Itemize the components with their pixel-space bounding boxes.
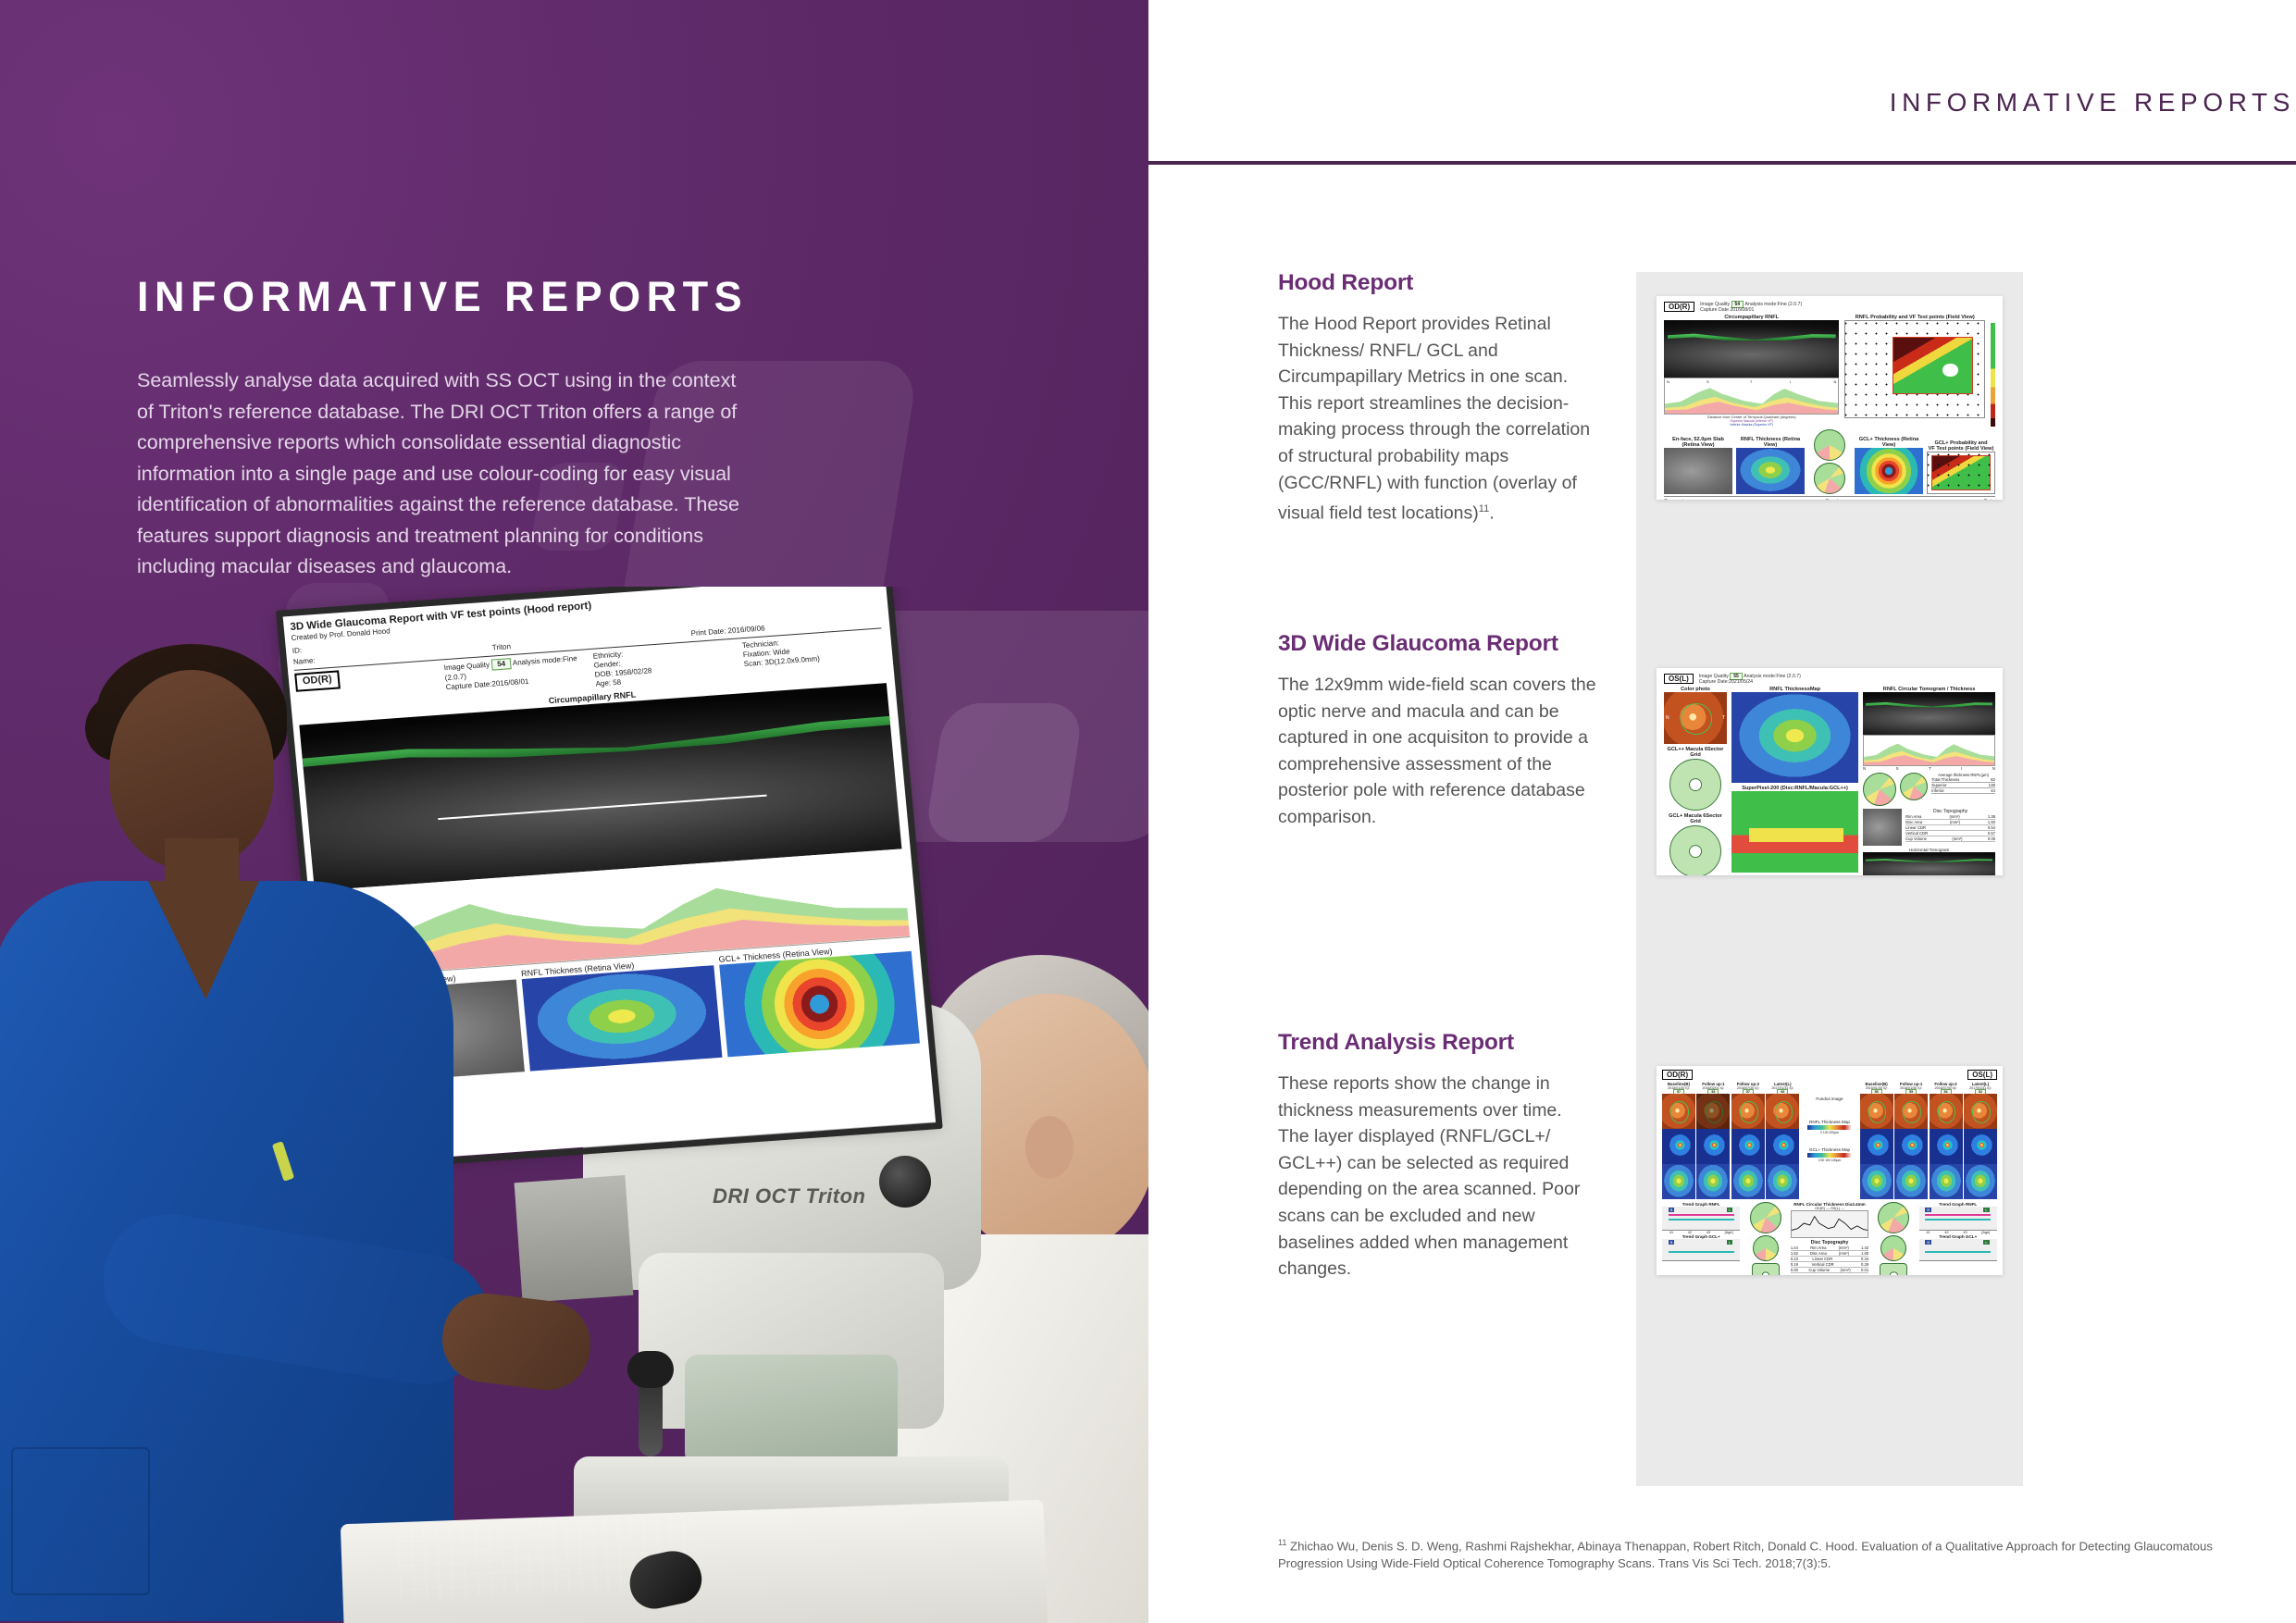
wide-topo-label-2: Linear CDR (1905, 825, 1926, 830)
trend-od-sector-grid (1753, 1235, 1779, 1261)
footnote-marker-hood: 11 (1479, 503, 1489, 514)
trend-os-rnfl-3 (1964, 1129, 1997, 1164)
footnote-text: Zhichao Wu, Denis S. D. Weng, Rashmi Raj… (1278, 1539, 2213, 1570)
trend-od-fundus-1 (1696, 1094, 1730, 1129)
trend-topo-os-3: 0.29 (1861, 1262, 1868, 1267)
trend-topo-unit-0: (mm²) (1839, 1245, 1849, 1250)
trend-os-rnfl-series-a (1925, 1214, 1991, 1216)
nurse-hand (438, 1289, 596, 1395)
trend-od-badge-l: L (1727, 1208, 1732, 1212)
hood-gcl-probability-map (1927, 452, 1995, 494)
wide-avg-label-1: Superior (1931, 783, 1947, 787)
trend-os-rnfl-series-b (1925, 1219, 1991, 1220)
trend-topo-label-1: Disc Area (1810, 1251, 1827, 1256)
hood-quadrant-S: S (1706, 379, 1709, 384)
wide-topo-unit-4: (mm³) (1952, 836, 1962, 841)
footnote-reference: 11 Zhichao Wu, Denis S. D. Weng, Rashmi … (1278, 1534, 2213, 1572)
wide-circular-tomogram (1863, 692, 1995, 735)
trend-od-gcl-0 (1662, 1164, 1695, 1199)
wide-q-N1: N (1863, 766, 1866, 771)
clinician-ear (1025, 1116, 1074, 1179)
wide-circular-thickness-chart (1863, 735, 1995, 766)
trend-topo-os-0: 1.42 (1861, 1245, 1868, 1250)
oct-device-logo: DRI OCT Triton (713, 1184, 898, 1212)
wide-disc-fan-grid (1900, 773, 1928, 800)
trend-od-col0-iqlabel: IQ: (1685, 1086, 1690, 1090)
hood-clock-hour-grid (1814, 463, 1845, 494)
trend-os-col3-iqlabel: IQ: (1987, 1086, 1992, 1090)
trend-od-gcl-series (1669, 1251, 1734, 1253)
trend-eye-right: OD(R) (1662, 1070, 1693, 1080)
trend-os-fundus-3 (1964, 1094, 1997, 1129)
trend-os-gcl-badge-l: L (1983, 1240, 1989, 1245)
trend-topo-od-0: 1.44 (1791, 1245, 1798, 1250)
section-trend-analysis-report: Trend Analysis Report These reports show… (1278, 1030, 1597, 1282)
hood-comments: Comments: (1664, 499, 1688, 500)
trend-os-badge-b: B (1925, 1208, 1931, 1212)
wide-topo-value-0: 1.38 (1988, 814, 1995, 819)
hood-enface-title: En-face, 52.0µm Slab (Retina View) (1664, 437, 1732, 448)
trend-od-rnfl-3 (1766, 1129, 1799, 1164)
wide-gclpp-sector-grid (1669, 759, 1721, 811)
trend-os-gcl-badge-b: B (1925, 1240, 1931, 1245)
trend-eye-left: OS(L) (1967, 1070, 1997, 1080)
wide-gclp-sector-grid (1669, 825, 1721, 875)
trend-os-rnfl-1 (1894, 1129, 1928, 1164)
hood-quadrant-T: T (1750, 379, 1752, 384)
section-title-hood: Hood Report (1278, 270, 1597, 296)
trend-od-graph-rnfl: B L (1662, 1207, 1740, 1231)
card-3d-wide-glaucoma-report[interactable]: OS(L) Image Quality 55 Analysis mode:Fin… (1657, 668, 2003, 875)
trend-od-clock-grid (1750, 1202, 1781, 1233)
wide-topo-value-4: 0.06 (1988, 836, 1995, 841)
hood-quadrant-grid (1814, 429, 1845, 461)
trend-od-gcl-badge-l: L (1727, 1240, 1732, 1245)
header-divider (1148, 161, 2296, 165)
wide-topo-value-2: 0.54 (1988, 825, 1995, 830)
hood-vf-probability-map (1844, 320, 1985, 418)
trend-gcl-colorbar (1807, 1153, 1851, 1158)
trend-os-fundus-2 (1930, 1094, 1963, 1129)
hero-body: Seamlessly analyse data acquired with SS… (137, 365, 748, 583)
trend-os-gcl-0 (1860, 1164, 1893, 1199)
trend-od-fundus-0 (1662, 1094, 1695, 1129)
trend-os-fundus-0 (1860, 1094, 1893, 1129)
trend-topo-unit-4: (mm³) (1841, 1268, 1851, 1272)
trend-topo-label-2: Linear CDR (1812, 1257, 1832, 1261)
wide-topo-value-1: 1.93 (1988, 820, 1995, 824)
wide-photo-label-T: T (1722, 715, 1725, 721)
trend-os-col1-iqlabel: IQ: (1917, 1086, 1922, 1090)
trend-os-gcl-3 (1964, 1164, 1997, 1199)
trend-os-gcl-series (1925, 1251, 1991, 1253)
hood-date: Date: (1984, 499, 1995, 500)
hood-capture-date: Capture Date 2016/08/01 (1700, 307, 1995, 313)
wide-gclp-grid-title: GCL+ Macula 6Sector Grid (1664, 813, 1727, 824)
hood-colorbar (1991, 323, 1995, 427)
oct-device-lens (879, 1156, 931, 1208)
wide-topo-label-0: Rim Area (1905, 814, 1921, 819)
trend-os-col0-iqlabel: IQ: (1883, 1086, 1888, 1090)
trend-os-col2-iqlabel: IQ: (1953, 1086, 1957, 1090)
hood-blind-spot (1942, 364, 1957, 378)
wide-topo-unit-1: (mm²) (1950, 820, 1960, 824)
oct-device-chinrest (685, 1355, 898, 1466)
trend-od-rnfl-series-b (1669, 1219, 1734, 1220)
trend-row-label-gcl: GCL+ Thickness Map (1802, 1147, 1856, 1152)
trend-od-age-0: 41 (1669, 1231, 1673, 1234)
trend-os-clock-grid (1878, 1202, 1909, 1233)
trend-od-rnfl-1 (1696, 1129, 1730, 1164)
trend-os-gcl-1 (1894, 1164, 1928, 1199)
hood-rnfl-profile-chart: N S T I N (1664, 378, 1839, 415)
hood-gcl-vf-points (1928, 452, 1994, 493)
trend-od-graph-gcl: B L (1662, 1239, 1740, 1261)
hero-title: INFORMATIVE REPORTS (137, 273, 896, 321)
wide-superpixel-map (1731, 791, 1858, 873)
trend-od-rnfl-0 (1662, 1129, 1695, 1164)
wide-disc-image (1863, 809, 1902, 846)
trend-os-badge-l: L (1983, 1208, 1989, 1212)
trend-gcl-scale: 0 50 100 150µm (1802, 1158, 1856, 1162)
trend-topo-od-1: 1.52 (1791, 1251, 1798, 1256)
hood-gcl-title: GCL+ Thickness (Retina View) (1855, 437, 1923, 448)
wide-avg-value-2: 44 (1991, 788, 1995, 793)
wide-q-I: I (1961, 766, 1962, 771)
hood-legend-inferior: Inferior Macula (Superior VF) (1664, 423, 1839, 427)
trend-topo-label-0: Rim Area (1810, 1245, 1826, 1250)
trend-od-fundus-3 (1766, 1094, 1799, 1129)
wide-gclpp-grid-title: GCL++ Macula 6Sector Grid (1664, 747, 1727, 758)
card-hood-report[interactable]: OD(R) Image Quality 54 Analysis mode:Fin… (1657, 296, 2003, 500)
trend-od-gcl-2 (1731, 1164, 1765, 1199)
hood-gcl-thickness-map (1855, 448, 1923, 494)
section-title-3d-wide: 3D Wide Glaucoma Report (1278, 631, 1597, 657)
wide-topo-value-3: 0.57 (1988, 831, 1995, 836)
hood-quadrant-N2: N (1834, 379, 1837, 384)
left-hero-panel: INFORMATIVE REPORTS Seamlessly analyse d… (0, 0, 1148, 1623)
trend-os-sector-grid (1880, 1235, 1906, 1261)
trend-topo-label-4: Cup Volume (1808, 1268, 1830, 1272)
wide-clock-grid (1863, 773, 1896, 806)
trend-od-gcl-3 (1766, 1164, 1799, 1199)
hood-eye-label: OD(R) (1664, 302, 1694, 312)
trend-rnfl-scale: 0 100 200µm (1802, 1131, 1856, 1134)
trend-os-fundus-1 (1894, 1094, 1928, 1129)
section-body-hood: The Hood Report provides Retinal Thickne… (1278, 311, 1597, 527)
section-3d-wide-glaucoma-report: 3D Wide Glaucoma Report The 12x9mm wide-… (1278, 631, 1597, 831)
hood-quadrant-I: I (1790, 379, 1791, 384)
trend-od-gcl-badge-b: B (1669, 1240, 1675, 1245)
right-content-column: INFORMATIVE REPORTS Hood Report The Hood… (1148, 0, 2296, 1623)
hood-rnfl-probability-patch (1893, 337, 1973, 394)
wide-capture-date: Capture Date:2021/05/24 (1699, 679, 1995, 685)
trend-os-macula-grid (1880, 1263, 1907, 1275)
trend-rnfl-colorbar (1807, 1125, 1851, 1130)
trend-od-col1-iqlabel: IQ: (1720, 1086, 1725, 1090)
hero-photograph: DRI OCT Triton 3D Wide Glaucoma Report w… (0, 587, 1148, 1623)
section-hood-report: Hood Report The Hood Report provides Ret… (1278, 270, 1597, 527)
wide-topo-unit-0: (mm²) (1950, 814, 1960, 819)
wide-avg-value-1: 138 (1989, 783, 1995, 787)
wide-eye-label: OS(L) (1664, 674, 1694, 684)
hood-signature: Signature: (1825, 499, 1846, 500)
trend-od-fundus-2 (1731, 1094, 1765, 1129)
card-trend-analysis-report[interactable]: OD(R) OS(L) Baseline(B) 2015/01/30 IQ: 5… (1657, 1066, 2003, 1275)
hood-enface-image (1664, 448, 1732, 494)
trend-os-graph-rnfl: B L (1919, 1207, 1997, 1231)
trend-od-rnfl-series-a (1669, 1214, 1734, 1216)
hood-rnfl-thickness-map (1736, 448, 1805, 494)
wide-topo-label-1: Disc Area (1905, 820, 1922, 824)
page-header-title: INFORMATIVE REPORTS (1703, 88, 2295, 118)
trend-row-label-fundus: Fundus image (1802, 1096, 1856, 1101)
trend-os-graph-gcl: B L (1919, 1239, 1997, 1261)
wide-rnfl-thickness-map (1731, 692, 1858, 783)
footnote-marker: 11 (1278, 1538, 1286, 1547)
nurse-pocket (11, 1447, 150, 1595)
trend-topo-label-3: Vertical CDR (1812, 1262, 1834, 1267)
trend-os-rnfl-0 (1860, 1129, 1893, 1164)
wide-horizontal-tomogram (1863, 852, 1995, 875)
trend-row-label-rnfl: RNFL Thickness Map (1802, 1120, 1856, 1124)
wide-fundus-photo: N T (1664, 692, 1727, 744)
wide-topo-label-3: Vertical CDR (1905, 831, 1928, 836)
trend-od-badge-b: B (1669, 1208, 1675, 1212)
trend-od-macula-grid (1752, 1263, 1780, 1275)
trend-topo-od-3: 0.19 (1791, 1262, 1798, 1267)
trend-circ-chart (1791, 1210, 1868, 1238)
wide-avg-label-2: Inferior (1931, 788, 1944, 793)
trend-topo-od-2: 0.23 (1791, 1257, 1798, 1261)
wide-avg-value-0: 82 (1991, 777, 1995, 782)
trend-od-col2-iqlabel: IQ: (1755, 1086, 1759, 1090)
section-body-3d-wide: The 12x9mm wide-field scan covers the op… (1278, 672, 1597, 831)
trend-od-col3-iqlabel: IQ: (1789, 1086, 1793, 1090)
wide-q-S: S (1896, 766, 1899, 771)
trend-os-rnfl-2 (1930, 1129, 1963, 1164)
trend-topo-os-2: 0.34 (1861, 1257, 1868, 1261)
trend-topo-od-4: 0.00 (1791, 1268, 1798, 1272)
section-body-trend: These reports show the change in thickne… (1278, 1071, 1597, 1282)
hood-bscan-image (1664, 320, 1839, 378)
wide-avg-label-0: Total Thickness (1931, 777, 1959, 782)
trend-os-age-label: [Age] (1981, 1231, 1990, 1234)
section-title-trend: Trend Analysis Report (1278, 1030, 1597, 1056)
page-root: INFORMATIVE REPORTS Seamlessly analyse d… (0, 0, 2296, 1623)
trend-topo-unit-1: (mm²) (1839, 1251, 1849, 1256)
trend-od-rnfl-2 (1731, 1129, 1765, 1164)
wide-photo-label-N: N (1666, 715, 1669, 721)
oct-device-joystick-knob[interactable] (627, 1351, 674, 1388)
trend-os-age-0: 41 (1926, 1231, 1930, 1234)
trend-od-gcl-1 (1696, 1164, 1730, 1199)
wide-topo-label-4: Cup Volume (1905, 836, 1927, 841)
wide-q-T: T (1929, 766, 1931, 771)
trend-topo-os-1: 1.60 (1861, 1251, 1868, 1256)
trend-od-age-label: [Age] (1725, 1231, 1733, 1234)
wide-q-N2: N (1992, 766, 1995, 771)
hood-quadrant-N1: N (1667, 379, 1669, 384)
hood-rnfl-title: RNFL Thickness (Retina View) (1736, 437, 1805, 448)
trend-os-gcl-2 (1930, 1164, 1963, 1199)
trend-topo-os-4: 0.01 (1861, 1268, 1868, 1272)
oct-monitor-stand (515, 1175, 634, 1303)
